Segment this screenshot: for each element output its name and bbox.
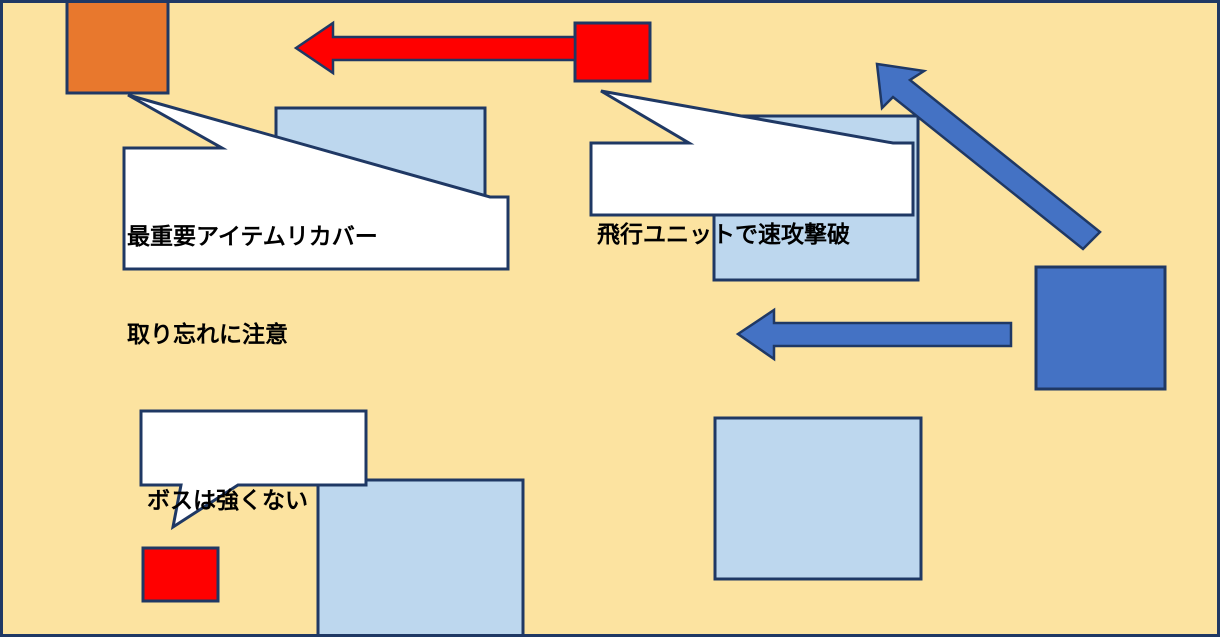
diagram-canvas: 最重要アイテムリカバー 取り忘れに注意 飛行ユニットで速攻撃破 ボスは強くない — [0, 0, 1220, 637]
callout-flying-unit-bubble[interactable] — [591, 91, 913, 215]
callout-boss-not-strong-bubble[interactable] — [141, 411, 366, 527]
callouts-layer — [3, 3, 1220, 637]
callout-item-recovery-bubble[interactable] — [124, 95, 508, 269]
